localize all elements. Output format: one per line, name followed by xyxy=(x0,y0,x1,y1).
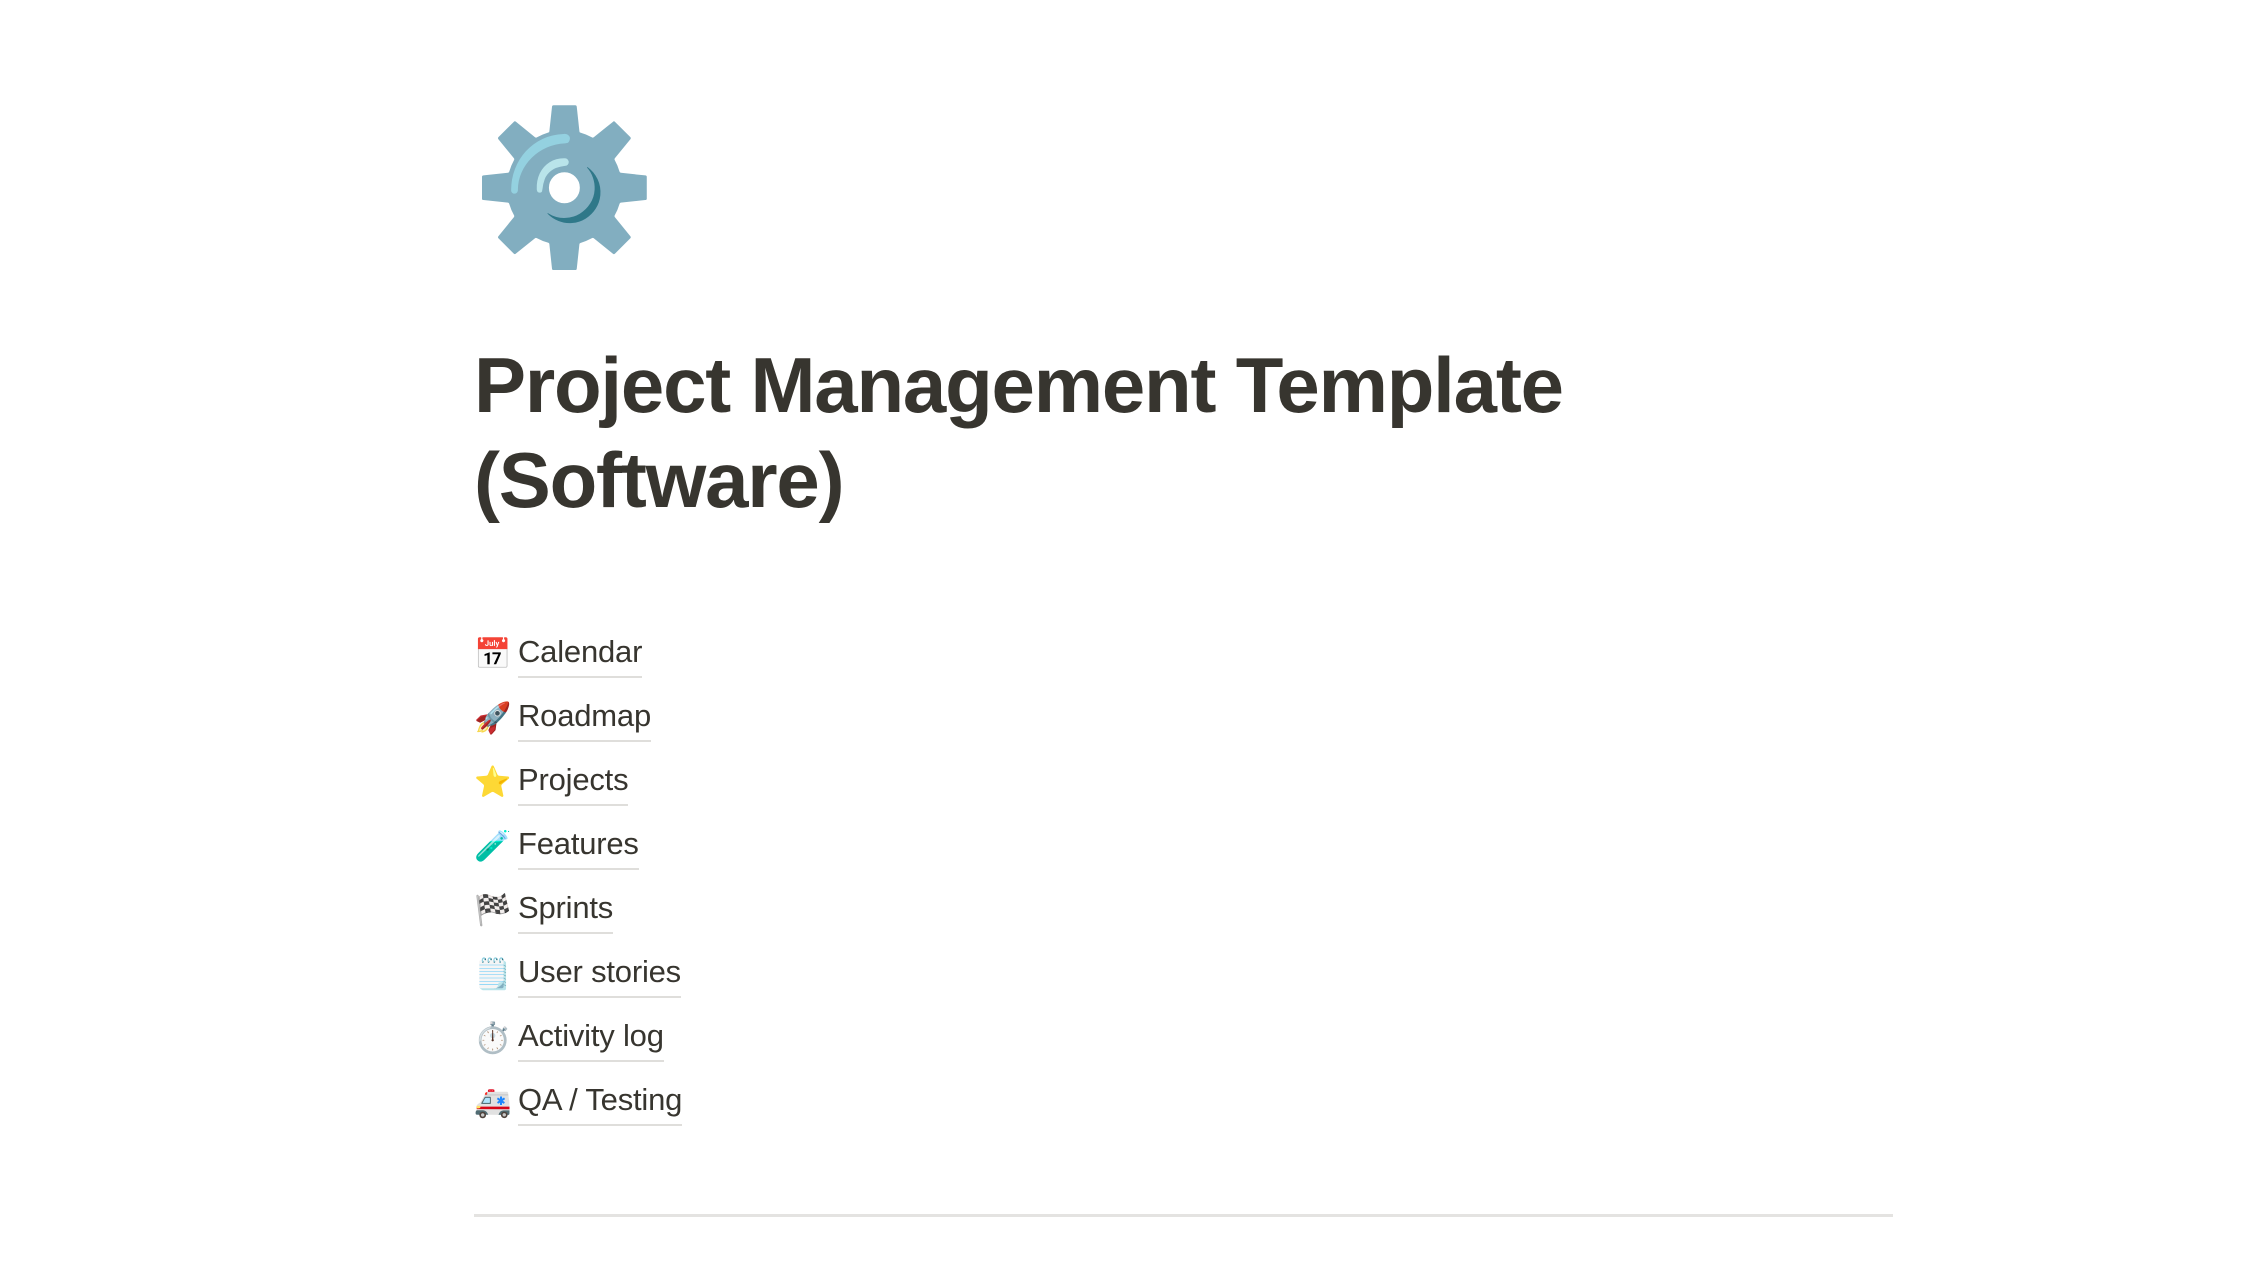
page-link-list: 📅 Calendar 🚀 Roadmap ⭐ Projects 🧪 Featur… xyxy=(474,623,1894,1135)
page-link-roadmap[interactable]: 🚀 Roadmap xyxy=(474,687,1894,751)
page-link-label[interactable]: Projects xyxy=(518,760,628,806)
page-link-label[interactable]: Calendar xyxy=(518,632,642,678)
page-canvas: ⚙️ Project Management Template (Software… xyxy=(0,0,2268,1280)
page-link-label[interactable]: Sprints xyxy=(518,888,613,934)
page-link-label[interactable]: Roadmap xyxy=(518,696,651,742)
page-title[interactable]: Project Management Template (Software) xyxy=(474,338,1654,528)
page-link-features[interactable]: 🧪 Features xyxy=(474,815,1894,879)
notepad-emoji: 🗒️ xyxy=(474,955,518,995)
rocket-emoji: 🚀 xyxy=(474,699,518,739)
ambulance-emoji: 🚑 xyxy=(474,1083,518,1123)
page-link-label[interactable]: Activity log xyxy=(518,1016,664,1062)
page-link-user-stories[interactable]: 🗒️ User stories xyxy=(474,943,1894,1007)
gear-icon[interactable]: ⚙️ xyxy=(471,100,647,276)
page-link-activity-log[interactable]: ⏱️ Activity log xyxy=(474,1007,1894,1071)
stopwatch-emoji: ⏱️ xyxy=(474,1019,518,1059)
divider-line xyxy=(474,1214,1893,1217)
divider xyxy=(474,1195,1893,1235)
page-link-calendar[interactable]: 📅 Calendar xyxy=(474,623,1894,687)
page-link-label[interactable]: QA / Testing xyxy=(518,1080,682,1126)
page-link-label[interactable]: User stories xyxy=(518,952,681,998)
page-link-label[interactable]: Features xyxy=(518,824,639,870)
star-emoji: ⭐ xyxy=(474,763,518,803)
page-link-qa-testing[interactable]: 🚑 QA / Testing xyxy=(474,1071,1894,1135)
test-tube-emoji: 🧪 xyxy=(474,827,518,867)
page-link-sprints[interactable]: 🏁 Sprints xyxy=(474,879,1894,943)
page-link-projects[interactable]: ⭐ Projects xyxy=(474,751,1894,815)
chequered-flag-emoji: 🏁 xyxy=(474,891,518,931)
calendar-emoji: 📅 xyxy=(474,635,518,675)
